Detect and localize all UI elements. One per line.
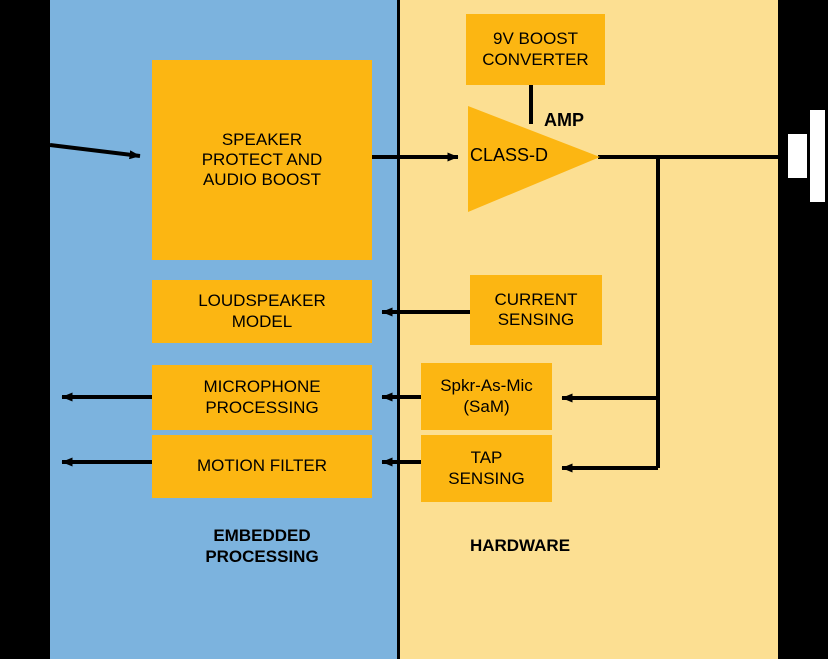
hardware-label: HARDWARE [440,535,600,556]
block-diagram-canvas: SPEAKER PROTECT AND AUDIO BOOST LOUDSPEA… [0,0,828,659]
amp-label: AMP [544,110,584,131]
block-tap-sensing[interactable]: TAP SENSING [421,435,552,502]
block-spkr-as-mic[interactable]: Spkr-As-Mic (SaM) [421,363,552,430]
class-d-label: CLASS-D [470,145,548,166]
block-loudspeaker-model[interactable]: LOUDSPEAKER MODEL [152,280,372,343]
panel-divider [397,0,400,659]
block-speaker-protect-and-audio-boost[interactable]: SPEAKER PROTECT AND AUDIO BOOST [152,60,372,260]
block-current-sensing[interactable]: CURRENT SENSING [470,275,602,345]
block-motion-filter[interactable]: MOTION FILTER [152,435,372,498]
block-microphone-processing[interactable]: MICROPHONE PROCESSING [152,365,372,430]
block-9v-boost-converter[interactable]: 9V BOOST CONVERTER [466,14,605,85]
loudspeaker-icon [784,108,828,204]
embedded-processing-label: EMBEDDED PROCESSING [152,525,372,568]
